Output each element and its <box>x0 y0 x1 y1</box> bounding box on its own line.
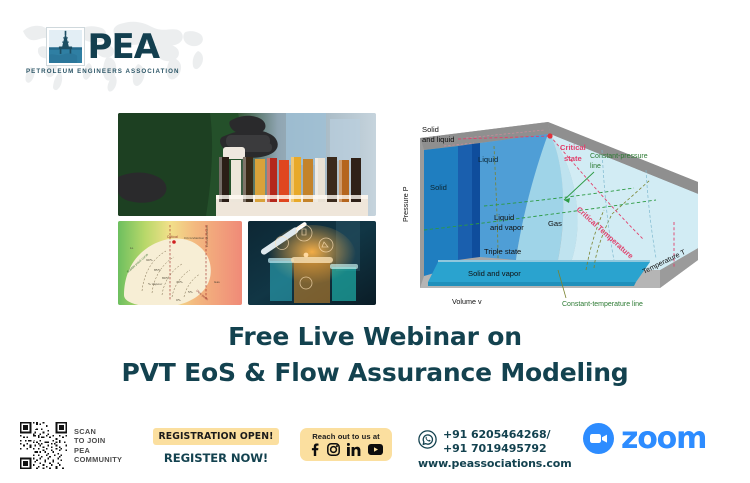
qr-caption-line1: SCAN <box>74 427 122 436</box>
contact-block: +91 6205464268/ +91 7019495792 www.peass… <box>418 428 572 470</box>
webinar-title-line2: PVT EoS & Flow Assurance Modeling <box>0 358 750 387</box>
label-liquid: Liquid <box>478 155 498 164</box>
svg-text:Gas: Gas <box>214 280 220 284</box>
axis-label-volume: Volume v <box>452 297 482 306</box>
qr-code[interactable] <box>20 422 67 469</box>
label-triple-state: Triple state <box>484 247 521 256</box>
label-solid-and-liquid-1: Solid <box>422 125 439 134</box>
pea-logo: PEA PETROLEUM ENGINEERS ASSOCIATION <box>26 28 180 75</box>
qr-caption-line4: COMMUNITY <box>74 455 122 464</box>
whatsapp-icon[interactable] <box>418 430 437 454</box>
label-constant-temperature: Constant-temperature line <box>562 301 643 308</box>
svg-text:90%: 90% <box>146 258 153 262</box>
instagram-icon[interactable] <box>327 443 340 456</box>
pvt-phase-diagram: .lbl{font-family:"Liberation Sans",sans-… <box>398 110 746 310</box>
svg-text:% Vapour: % Vapour <box>148 282 163 286</box>
label-critical-state-2: state <box>564 154 582 163</box>
phone-numbers: +91 6205464268/ +91 7019495792 <box>443 428 550 455</box>
pea-wordmark: PEA <box>88 30 159 64</box>
svg-text:0%: 0% <box>176 298 181 302</box>
photo-lab-beakers <box>248 221 376 305</box>
photo-lab-test-tubes <box>118 113 376 216</box>
label-liquid-and-vapor-2: and vapor <box>490 223 524 232</box>
label-constant-pressure-2: line <box>590 163 601 170</box>
qr-caption-line3: PEA <box>74 446 122 455</box>
oil-rig-icon <box>47 28 84 65</box>
website-url[interactable]: www.peassociations.com <box>418 457 572 470</box>
phone-number-1: +91 6205464268/ <box>443 428 550 442</box>
svg-text:70%: 70% <box>176 280 183 284</box>
zoom-video-icon <box>583 423 614 454</box>
axis-label-pressure: Pressure P <box>401 186 410 222</box>
youtube-icon[interactable] <box>368 444 383 455</box>
svg-text:LL: LL <box>130 246 134 250</box>
svg-text:5%: 5% <box>188 290 193 294</box>
svg-text:Cricondenbar: Cricondenbar <box>184 236 205 240</box>
zoom-wordmark: zoom <box>621 424 706 454</box>
webinar-poster: PEA PETROLEUM ENGINEERS ASSOCIATION <box>0 0 750 483</box>
webinar-title-line1: Free Live Webinar on <box>0 322 750 351</box>
reach-out-label: Reach out to us at <box>309 432 383 441</box>
svg-text:85%: 85% <box>154 268 161 272</box>
zoom-logo: zoom <box>583 423 706 454</box>
facebook-icon[interactable] <box>309 443 320 456</box>
label-constant-pressure-1: Constant-pressure <box>590 153 648 160</box>
image-collage: Critical Cricondenbar 90%85% 80%70% % Va… <box>118 113 376 305</box>
phone-number-2: +91 7019495792 <box>443 442 550 456</box>
label-liquid-and-vapor-1: Liquid <box>494 213 514 222</box>
label-solid-and-liquid-2: and liquid <box>422 135 455 144</box>
label-gas: Gas <box>548 219 562 228</box>
linkedin-icon[interactable] <box>347 443 361 456</box>
registration-block: REGISTRATION OPEN! REGISTER NOW! <box>152 426 280 465</box>
svg-text:Critical: Critical <box>167 235 178 239</box>
label-solid-and-vapor: Solid and vapor <box>468 269 521 278</box>
qr-block: SCAN TO JOIN PEA COMMUNITY <box>20 422 122 469</box>
photo-phase-envelope-chart: Critical Cricondenbar 90%85% 80%70% % Va… <box>118 221 242 305</box>
label-critical-state-1: Critical <box>560 143 586 152</box>
svg-text:Cricondentherm: Cricondentherm <box>205 225 209 247</box>
qr-caption: SCAN TO JOIN PEA COMMUNITY <box>74 427 122 465</box>
svg-text:80%: 80% <box>162 276 169 280</box>
social-links-badge: Reach out to us at <box>300 428 392 461</box>
registration-open-badge: REGISTRATION OPEN! <box>153 428 280 445</box>
label-solid: Solid <box>430 183 447 192</box>
register-now-cta[interactable]: REGISTER NOW! <box>152 451 280 465</box>
qr-caption-line2: TO JOIN <box>74 436 122 445</box>
pea-tagline: PETROLEUM ENGINEERS ASSOCIATION <box>26 68 180 75</box>
